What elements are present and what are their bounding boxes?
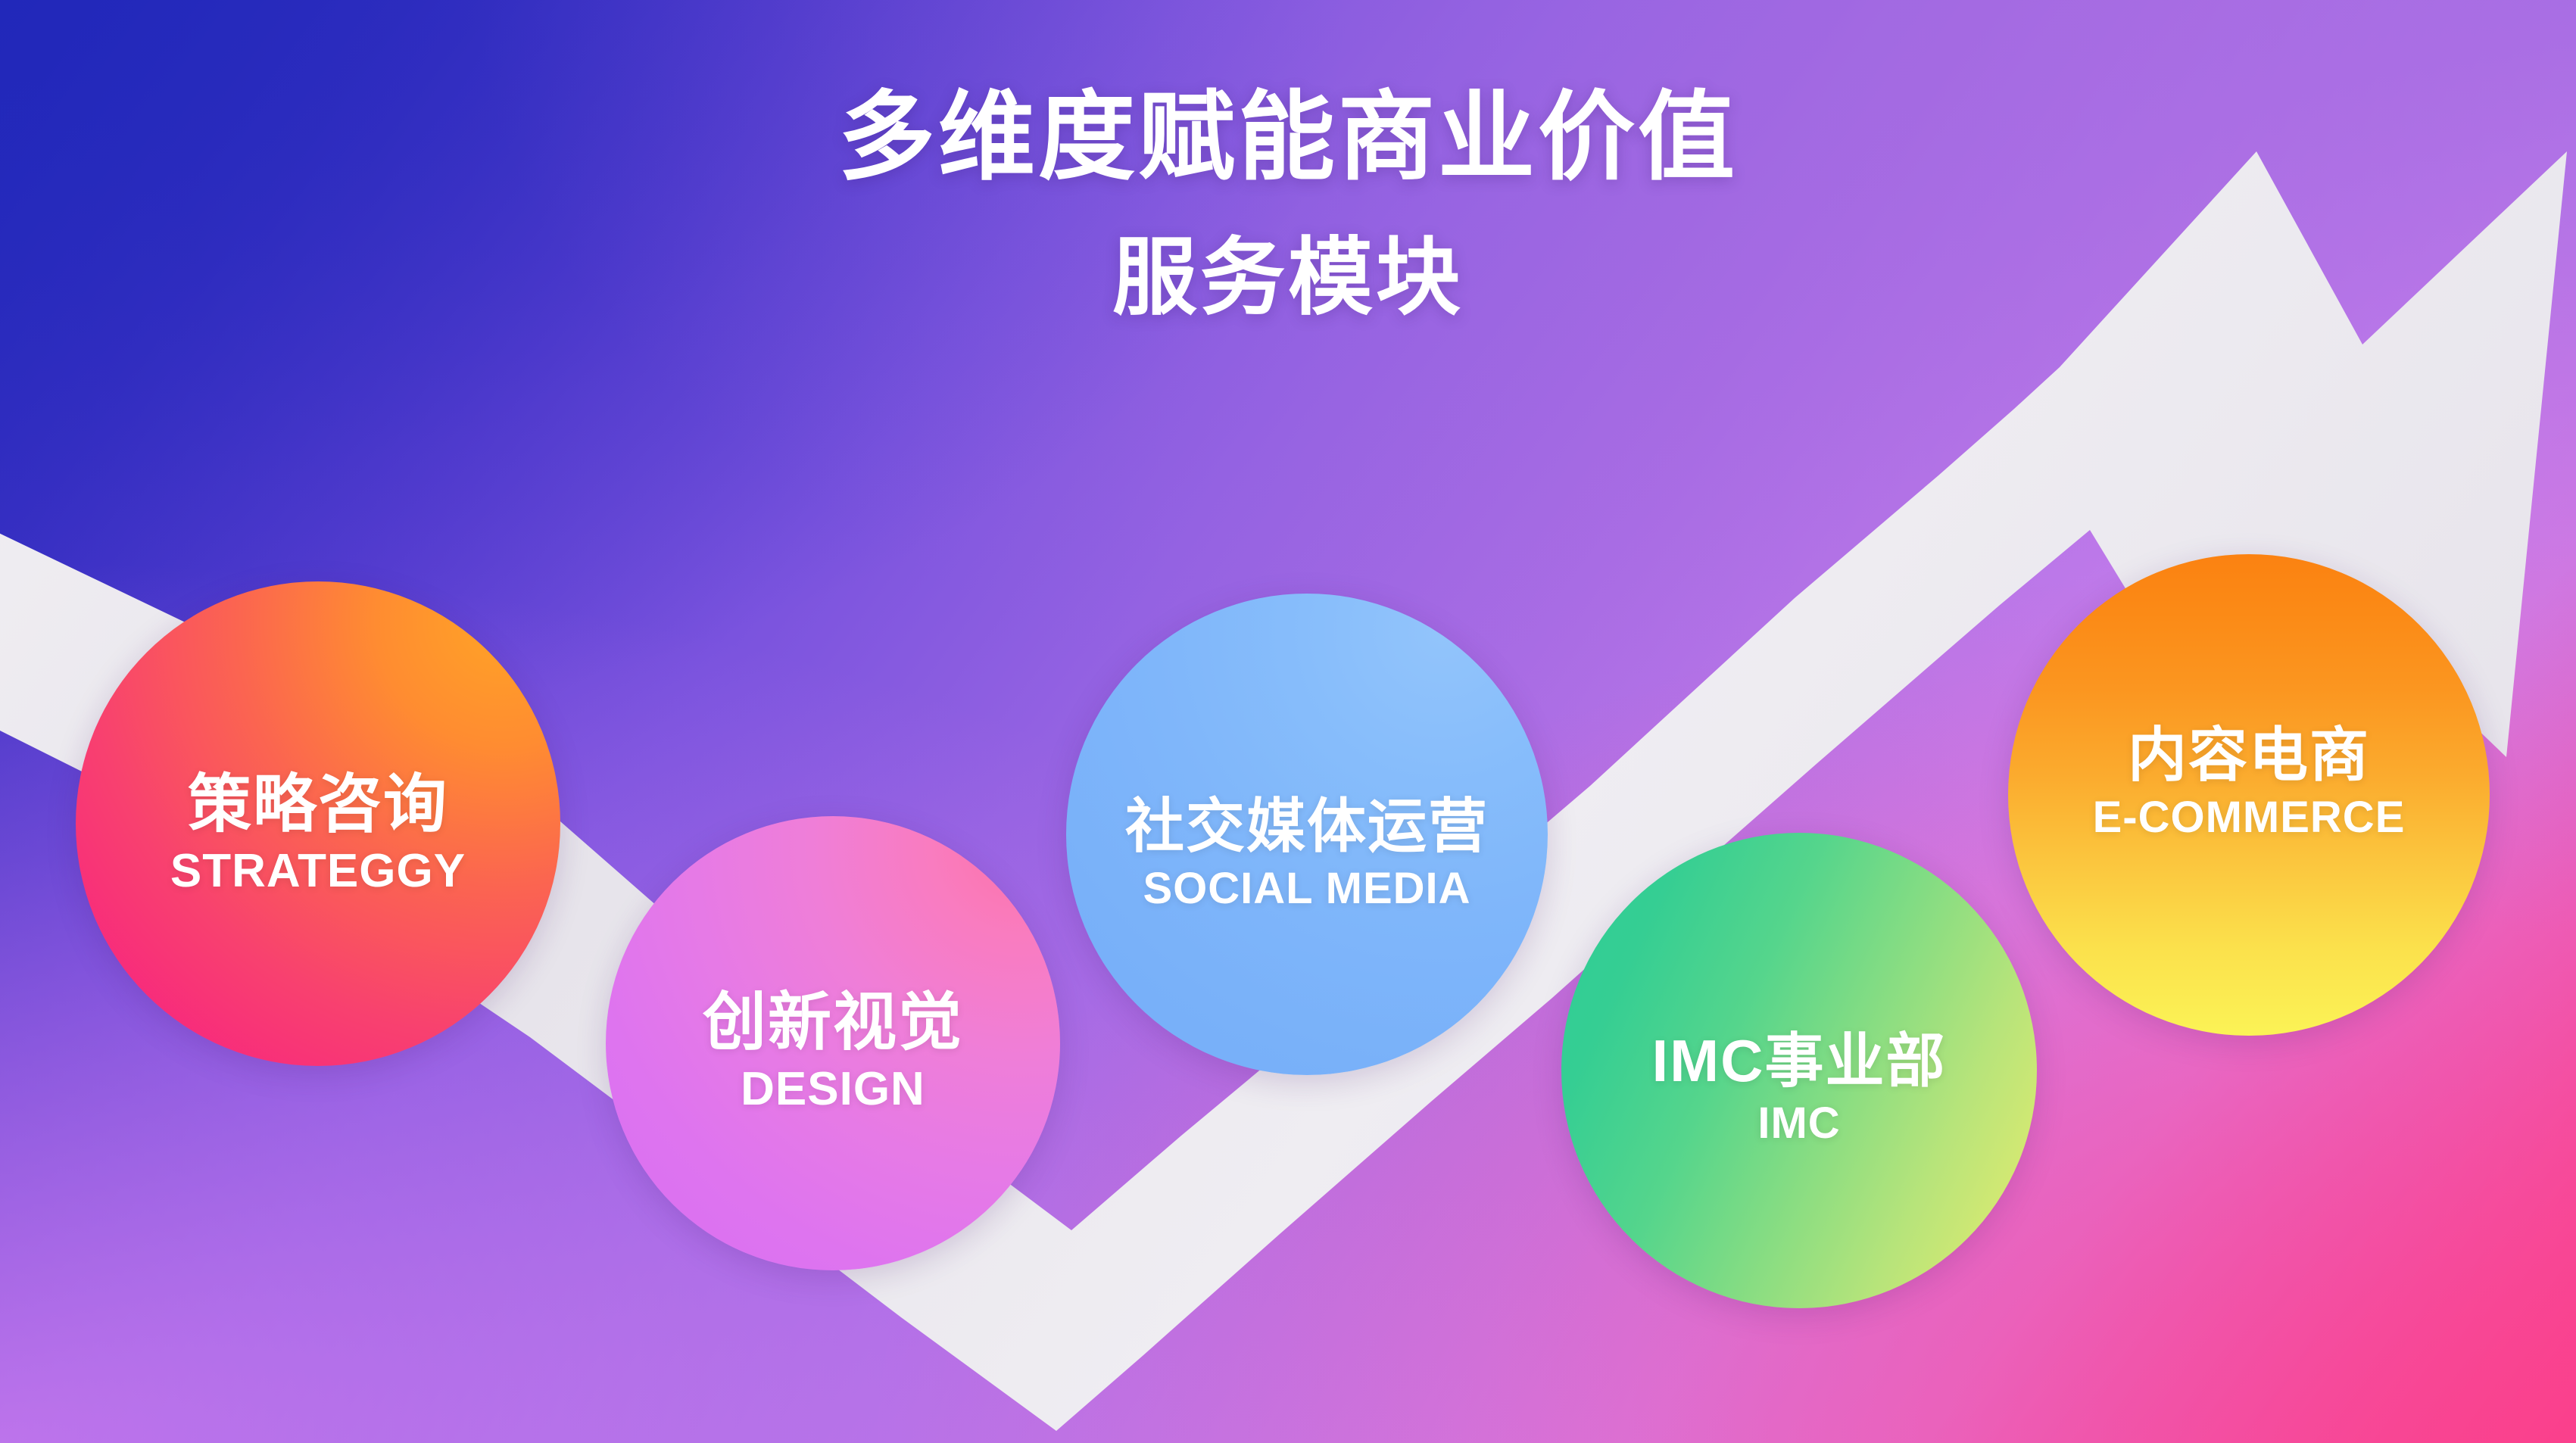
module-label-en: DESIGN <box>703 1064 963 1114</box>
module-label-cn: 创新视觉 <box>703 990 963 1054</box>
module-label-cn: 内容电商 <box>2093 725 2406 784</box>
module-circle-design[interactable]: 创新视觉 DESIGN <box>606 816 1060 1270</box>
module-label-cn: 策略咨询 <box>170 772 466 836</box>
module-circle-strategy[interactable]: 策略咨询 STRATEGGY <box>76 581 560 1066</box>
module-label-en: E-COMMERCE <box>2093 795 2406 841</box>
module-circle-social-media[interactable]: 社交媒体运营 SOCIAL MEDIA <box>1066 594 1548 1075</box>
module-label-en: IMC <box>1652 1101 1947 1147</box>
module-label-en: SOCIAL MEDIA <box>1125 866 1489 912</box>
module-label-cn: 社交媒体运营 <box>1125 796 1489 856</box>
infographic-slide: 多维度赋能商业价值 服务模块 策略咨询 STRATEGGY 创新视觉 DESIG… <box>0 0 2576 1443</box>
module-label-cn: IMC事业部 <box>1652 1031 1947 1090</box>
module-label-en: STRATEGGY <box>170 846 466 896</box>
module-circle-imc[interactable]: IMC事业部 IMC <box>1561 833 2037 1308</box>
module-circle-ecommerce[interactable]: 内容电商 E-COMMERCE <box>2008 554 2490 1036</box>
